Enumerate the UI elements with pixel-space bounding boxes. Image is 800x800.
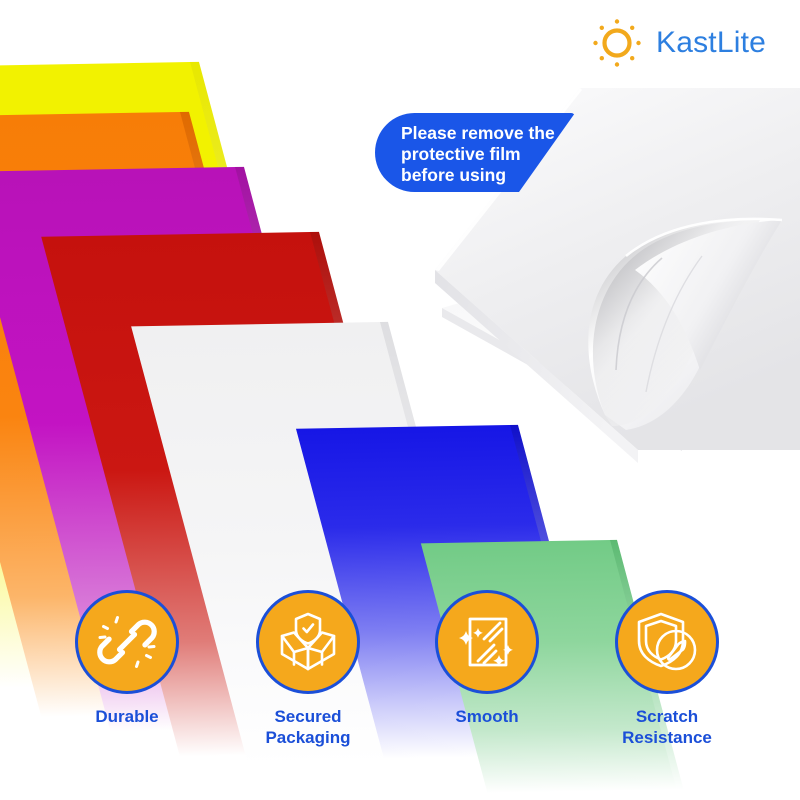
chain-link-icon [94,609,160,675]
feature-label: Scratch Resistance [577,706,757,748]
sun-icon [588,14,646,72]
feature-label: Durable [37,706,217,727]
sparkle-pane-icon [454,609,520,675]
feature-badge-circle [256,590,360,694]
feature-label-line-2: Resistance [577,727,757,748]
feature-badge-circle [435,590,539,694]
feature-badge-row: Durable [0,590,800,770]
feature-label-line-1: Durable [37,706,217,727]
feature-label-line-1: Secured [218,706,398,727]
shield-knife-icon [633,608,701,676]
shield-box-icon [274,608,342,676]
feature-label-line-2: Packaging [218,727,398,748]
feature-scratch-resistance: Scratch Resistance [577,590,757,748]
feature-durable: Durable [37,590,217,727]
brand-logo: KastLite [588,14,766,72]
feature-label: Smooth [397,706,577,727]
feature-label: Secured Packaging [218,706,398,748]
feature-badge-circle [615,590,719,694]
feature-smooth: Smooth [397,590,577,727]
feature-label-line-1: Scratch [577,706,757,727]
feature-label-line-1: Smooth [397,706,577,727]
feature-secured-packaging: Secured Packaging [218,590,398,748]
feature-badge-circle [75,590,179,694]
product-infographic: KastLite Please remove the protective fi… [0,0,800,800]
brand-wordmark: KastLite [656,26,766,60]
